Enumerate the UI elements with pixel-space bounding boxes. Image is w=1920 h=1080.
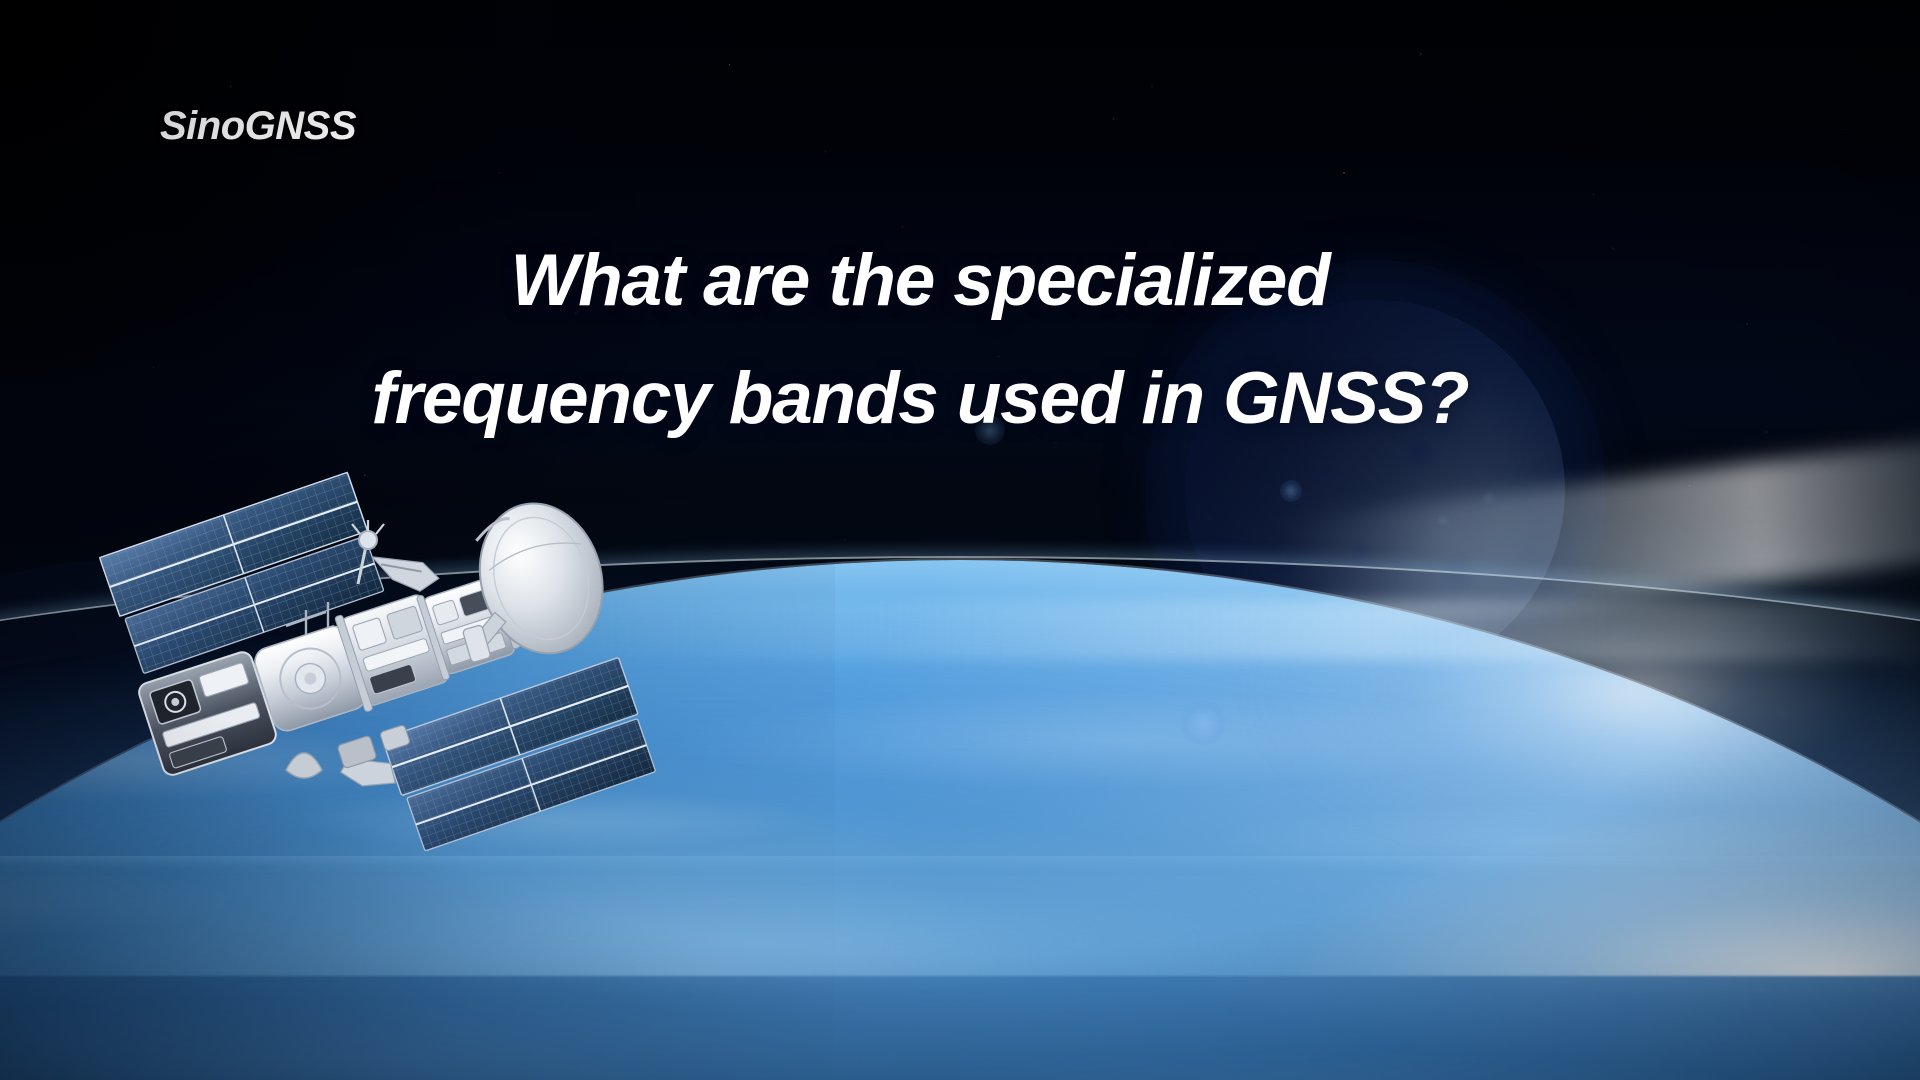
- headline-line-2: frequency bands used in GNSS?: [210, 340, 1630, 458]
- banner-stage: SinoGNSS What are the specialized freque…: [0, 0, 1920, 1080]
- brand-logo[interactable]: SinoGNSS: [160, 106, 356, 146]
- page-title: What are the specialized frequency bands…: [210, 222, 1630, 459]
- earth-terminator-left: [0, 560, 835, 1080]
- headline-line-1: What are the specialized: [210, 222, 1630, 340]
